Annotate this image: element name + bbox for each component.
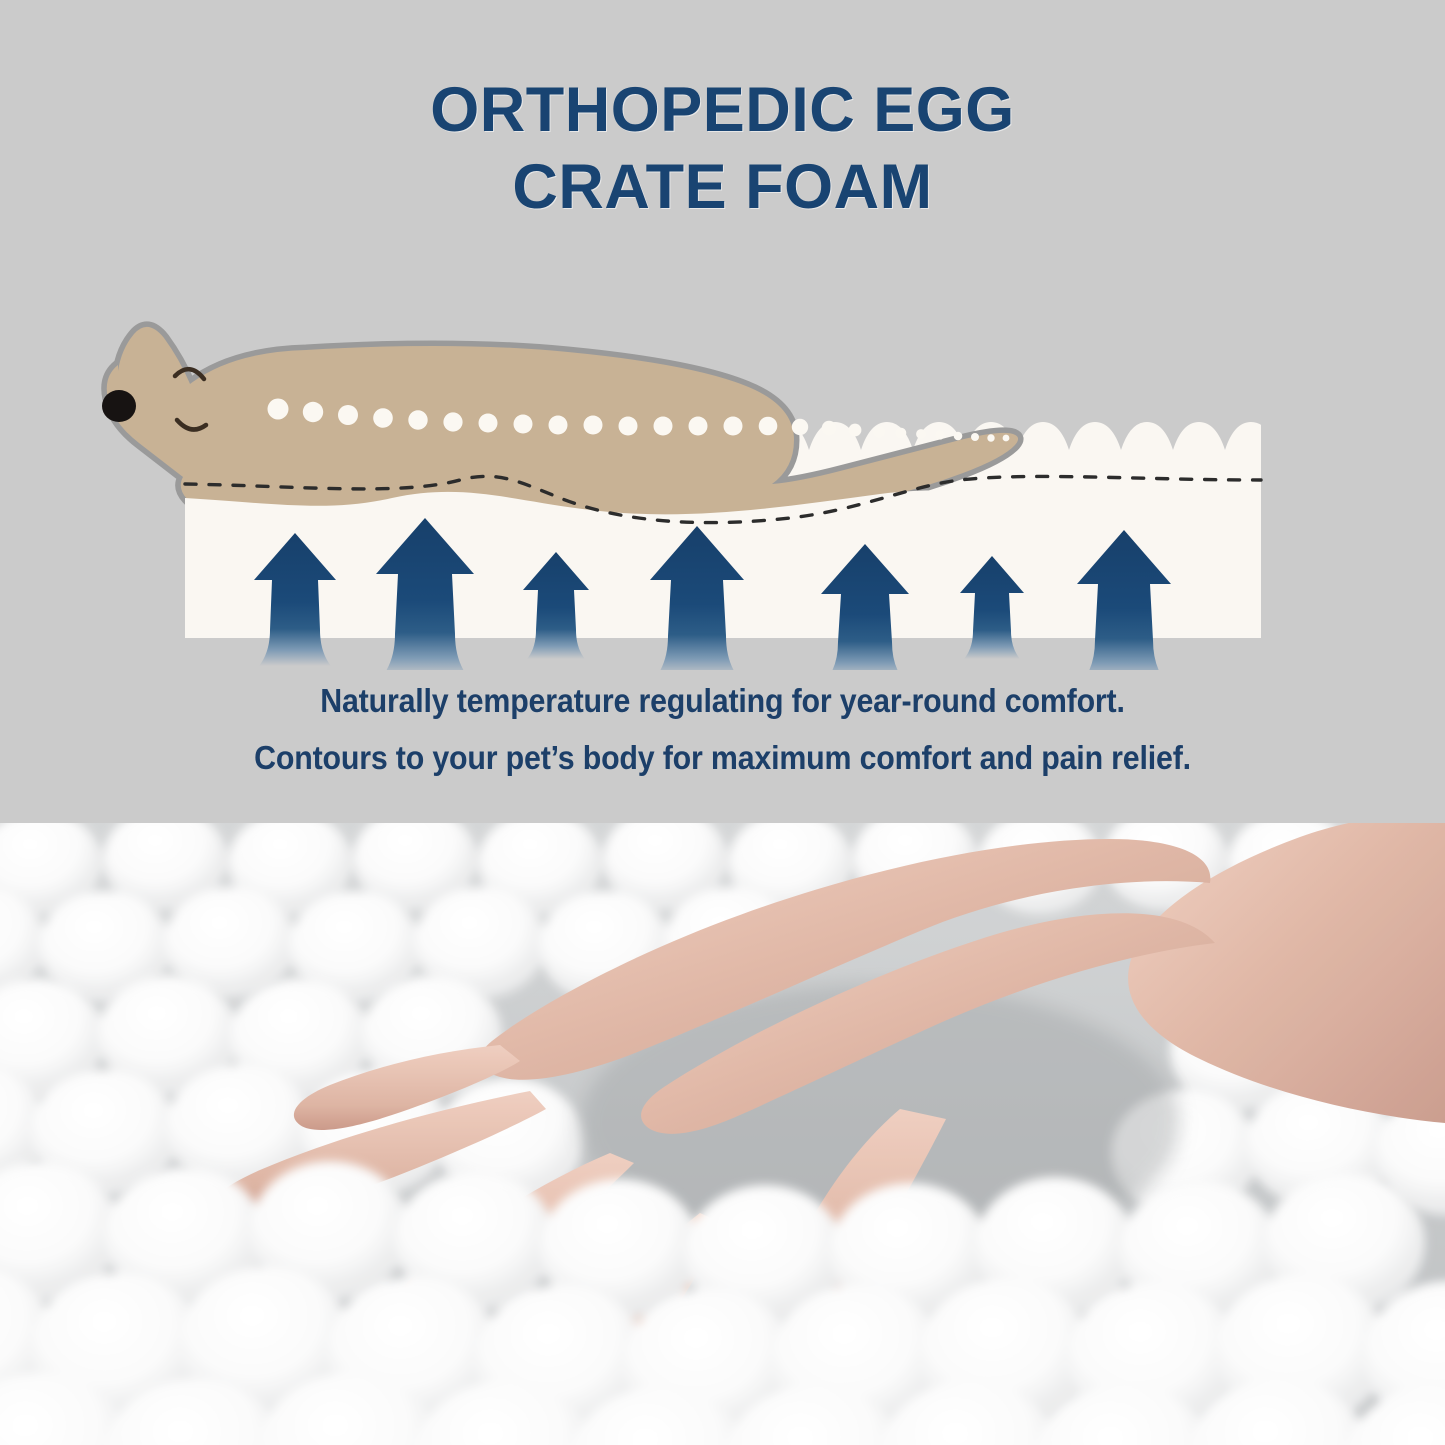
subtitle-line-1: Naturally temperature regulating for yea… (58, 672, 1387, 729)
sleeping-dog (102, 327, 1018, 517)
page-title: ORTHOPEDIC EGG CRATE FOAM (0, 72, 1445, 226)
photo-haze (0, 823, 1445, 1445)
product-infographic: ORTHOPEDIC EGG CRATE FOAM (0, 0, 1445, 1445)
foam-support-illustration (0, 290, 1445, 670)
top-info-panel: ORTHOPEDIC EGG CRATE FOAM (0, 0, 1445, 823)
headline-line-1: ORTHOPEDIC EGG (0, 72, 1445, 149)
dog-nose (102, 390, 136, 422)
headline-line-2: CRATE FOAM (0, 149, 1445, 226)
foam-texture-photo (0, 823, 1445, 1445)
foam-photo-svg (0, 823, 1445, 1445)
illustration-svg (0, 290, 1445, 670)
feature-description: Naturally temperature regulating for yea… (58, 672, 1387, 786)
subtitle-line-2: Contours to your pet’s body for maximum … (58, 729, 1387, 786)
